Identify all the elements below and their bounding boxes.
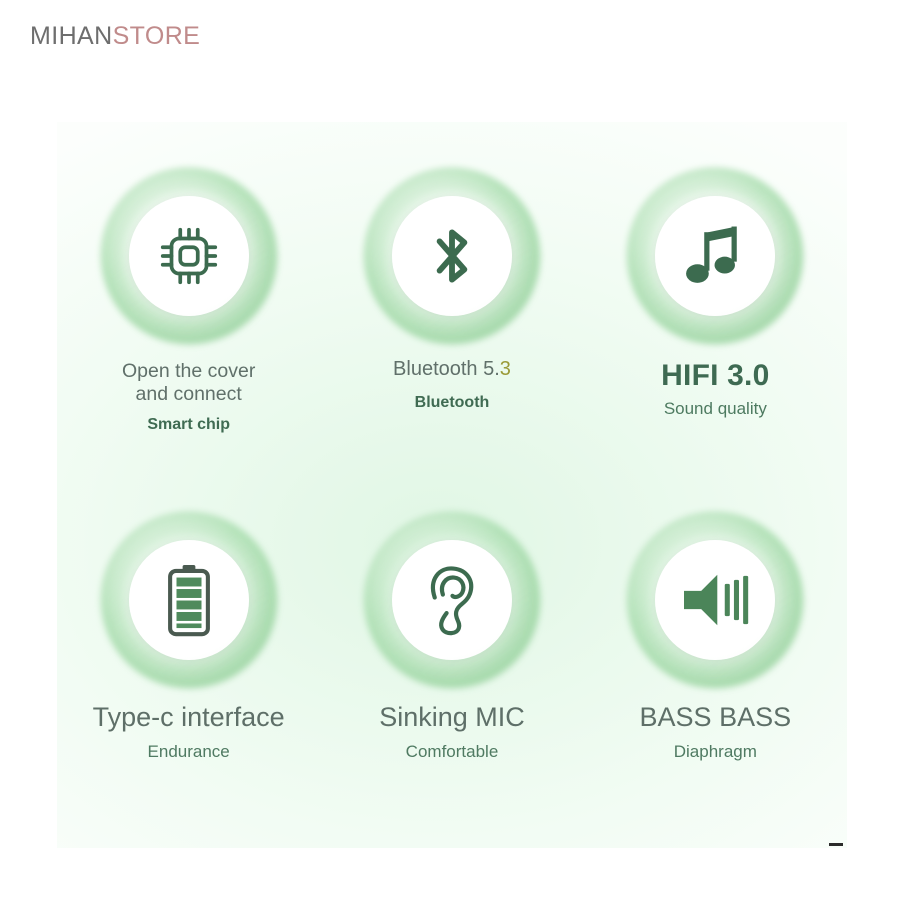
feature-title: Sinking MIC	[332, 702, 572, 734]
feature-title: Type-c interface	[69, 702, 309, 734]
brand-logo: MIHANSTORE	[30, 24, 200, 49]
feature-card-bluetooth: Bluetooth 5.3 Bluetooth	[320, 150, 583, 500]
feature-badge-smart-chip	[101, 168, 277, 344]
feature-card-comfortable: Sinking MIC Comfortable	[320, 500, 583, 850]
ear-icon	[423, 563, 481, 637]
feature-title: HIFI 3.0	[595, 358, 835, 393]
badge-disc	[129, 196, 249, 316]
badge-disc	[655, 540, 775, 660]
feature-badge-bluetooth	[364, 168, 540, 344]
feature-card-sound-quality: HIFI 3.0 Sound quality	[584, 150, 847, 500]
feature-badge-sound-quality	[627, 168, 803, 344]
feature-caption: HIFI 3.0 Sound quality	[595, 358, 835, 420]
feature-card-smart-chip: Open the cover and connect Smart chip	[57, 150, 320, 500]
feature-title: Open the cover and connect	[69, 360, 309, 406]
feature-badge-diaphragm	[627, 512, 803, 688]
feature-subtitle: Diaphragm	[595, 742, 835, 762]
feature-subtitle: Comfortable	[332, 742, 572, 762]
infographic-page: MIHANSTORE Open the cover and connect Sm…	[0, 0, 900, 900]
feature-caption: Bluetooth 5.3 Bluetooth	[332, 358, 572, 412]
feature-card-endurance: Type-c interface Endurance	[57, 500, 320, 850]
feature-badge-endurance	[101, 512, 277, 688]
badge-disc	[392, 196, 512, 316]
feature-subtitle: Endurance	[69, 742, 309, 762]
feature-subtitle: Smart chip	[69, 415, 309, 434]
feature-card-diaphragm: BASS BASS Diaphragm	[584, 500, 847, 850]
bluetooth-icon	[421, 220, 483, 292]
speaker-volume-icon	[679, 569, 751, 631]
badge-disc	[655, 196, 775, 316]
feature-caption: Open the cover and connect Smart chip	[69, 358, 309, 434]
feature-title-accent: 3	[500, 358, 511, 380]
feature-badge-comfortable	[364, 512, 540, 688]
feature-subtitle: Bluetooth	[332, 393, 572, 412]
feature-title: Bluetooth 5.3	[332, 358, 572, 382]
brand-name-secondary: STORE	[113, 22, 201, 50]
brand-name-primary: MIHAN	[30, 22, 113, 50]
feature-caption: BASS BASS Diaphragm	[595, 702, 835, 762]
badge-disc	[392, 540, 512, 660]
feature-title: BASS BASS	[595, 702, 835, 734]
feature-subtitle: Sound quality	[595, 399, 835, 419]
music-note-icon	[683, 222, 747, 290]
cpu-chip-icon	[154, 221, 224, 291]
badge-disc	[129, 540, 249, 660]
feature-caption: Type-c interface Endurance	[69, 702, 309, 762]
feature-caption: Sinking MIC Comfortable	[332, 702, 572, 762]
battery-full-icon	[166, 563, 212, 637]
feature-grid: Open the cover and connect Smart chip Bl…	[57, 150, 847, 850]
feature-title-prefix: Bluetooth 5.	[393, 358, 500, 380]
